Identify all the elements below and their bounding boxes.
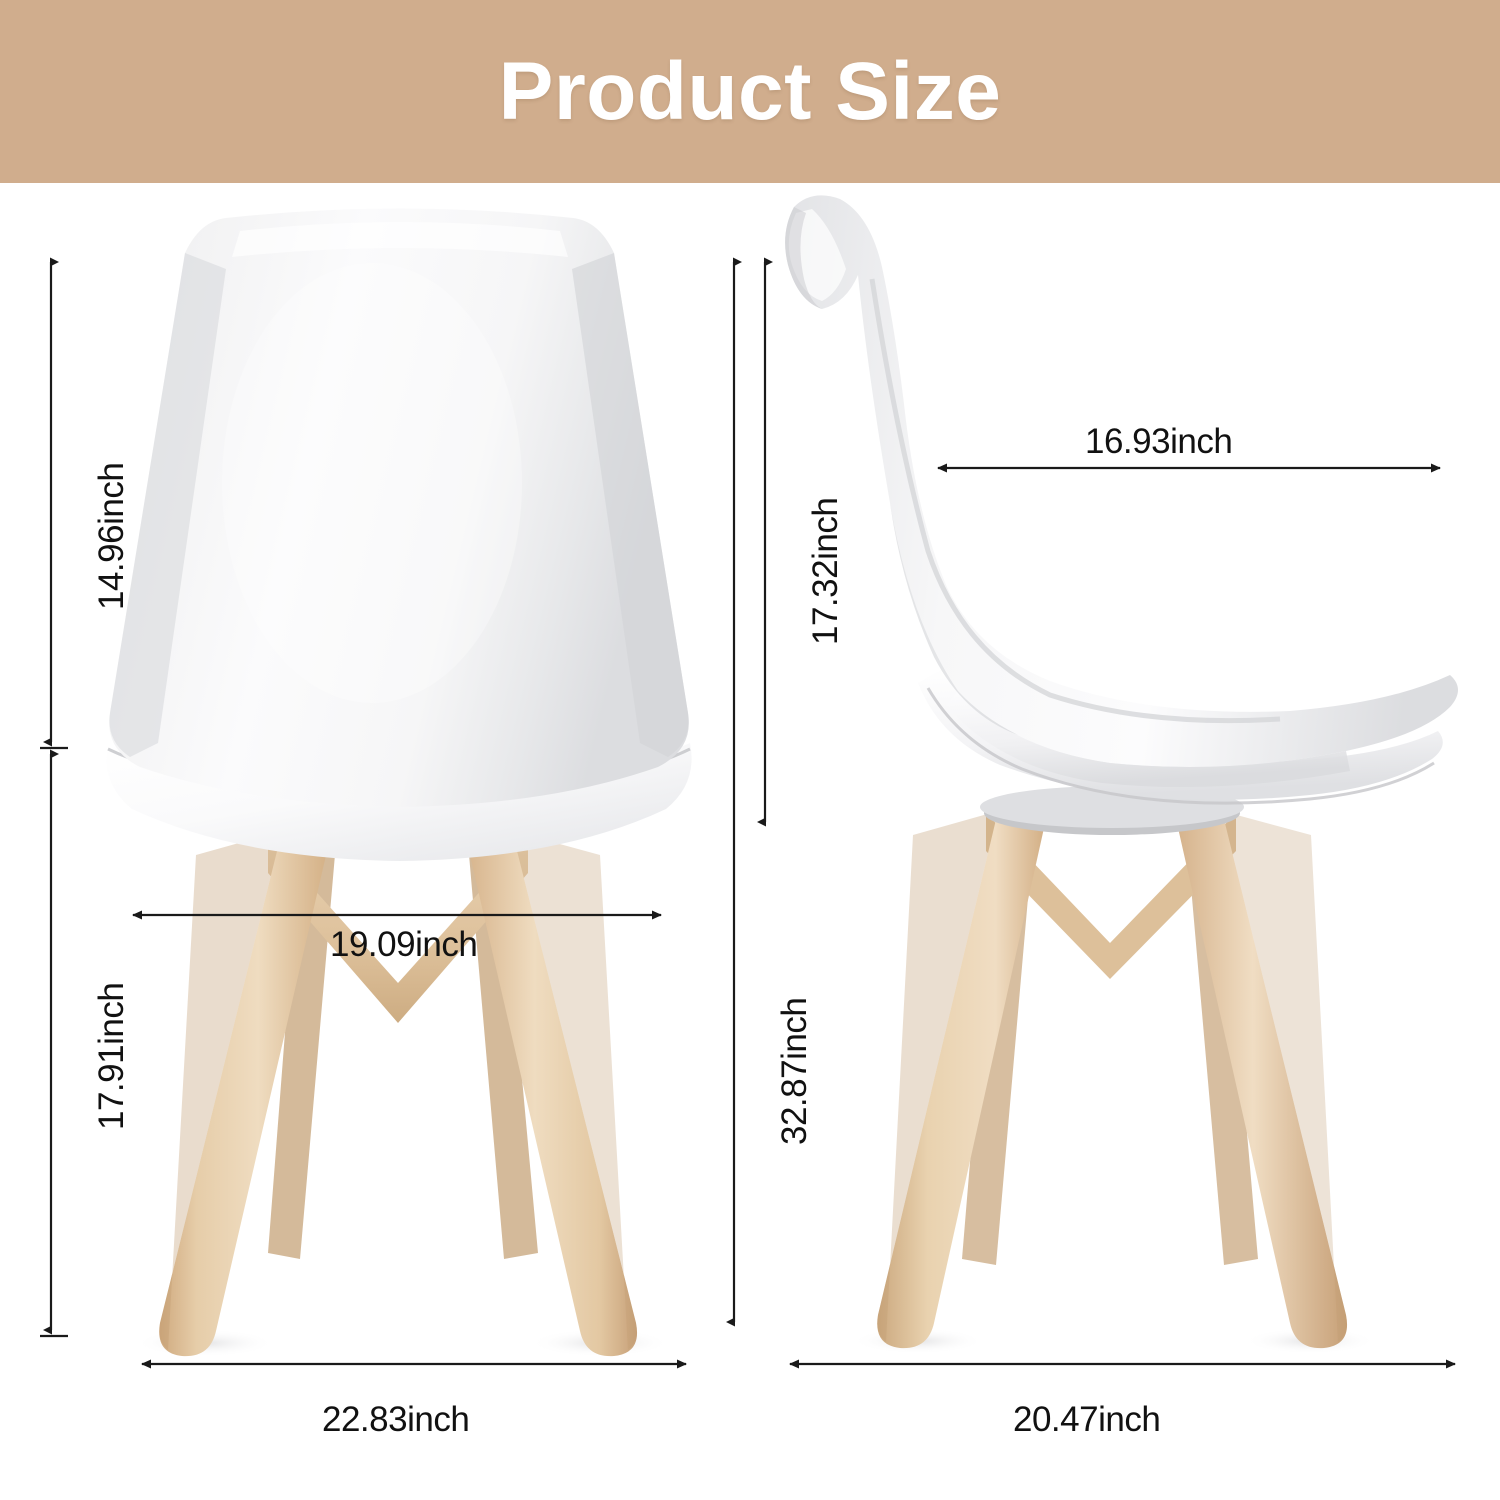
label-seat-width: 19.09inch	[330, 925, 477, 965]
side-view-panel	[750, 183, 1500, 1500]
page-title: Product Size	[499, 51, 1002, 133]
illustration-stage	[0, 183, 1500, 1500]
label-backrest-height: 14.96inch	[92, 463, 132, 610]
label-backrest-height-side: 17.32inch	[806, 498, 846, 645]
chair-side-view-image	[750, 183, 1500, 1500]
chair-front-view-image	[0, 183, 750, 1500]
product-size-infographic: Product Size	[0, 0, 1500, 1500]
front-view-panel	[0, 183, 750, 1500]
header-banner: Product Size	[0, 0, 1500, 183]
label-overall-depth: 20.47inch	[1013, 1400, 1160, 1440]
label-seat-height: 17.91inch	[92, 983, 132, 1130]
label-seat-depth: 16.93inch	[1085, 422, 1232, 462]
label-overall-width: 22.83inch	[322, 1400, 469, 1440]
label-overall-height: 32.87inch	[775, 998, 815, 1145]
